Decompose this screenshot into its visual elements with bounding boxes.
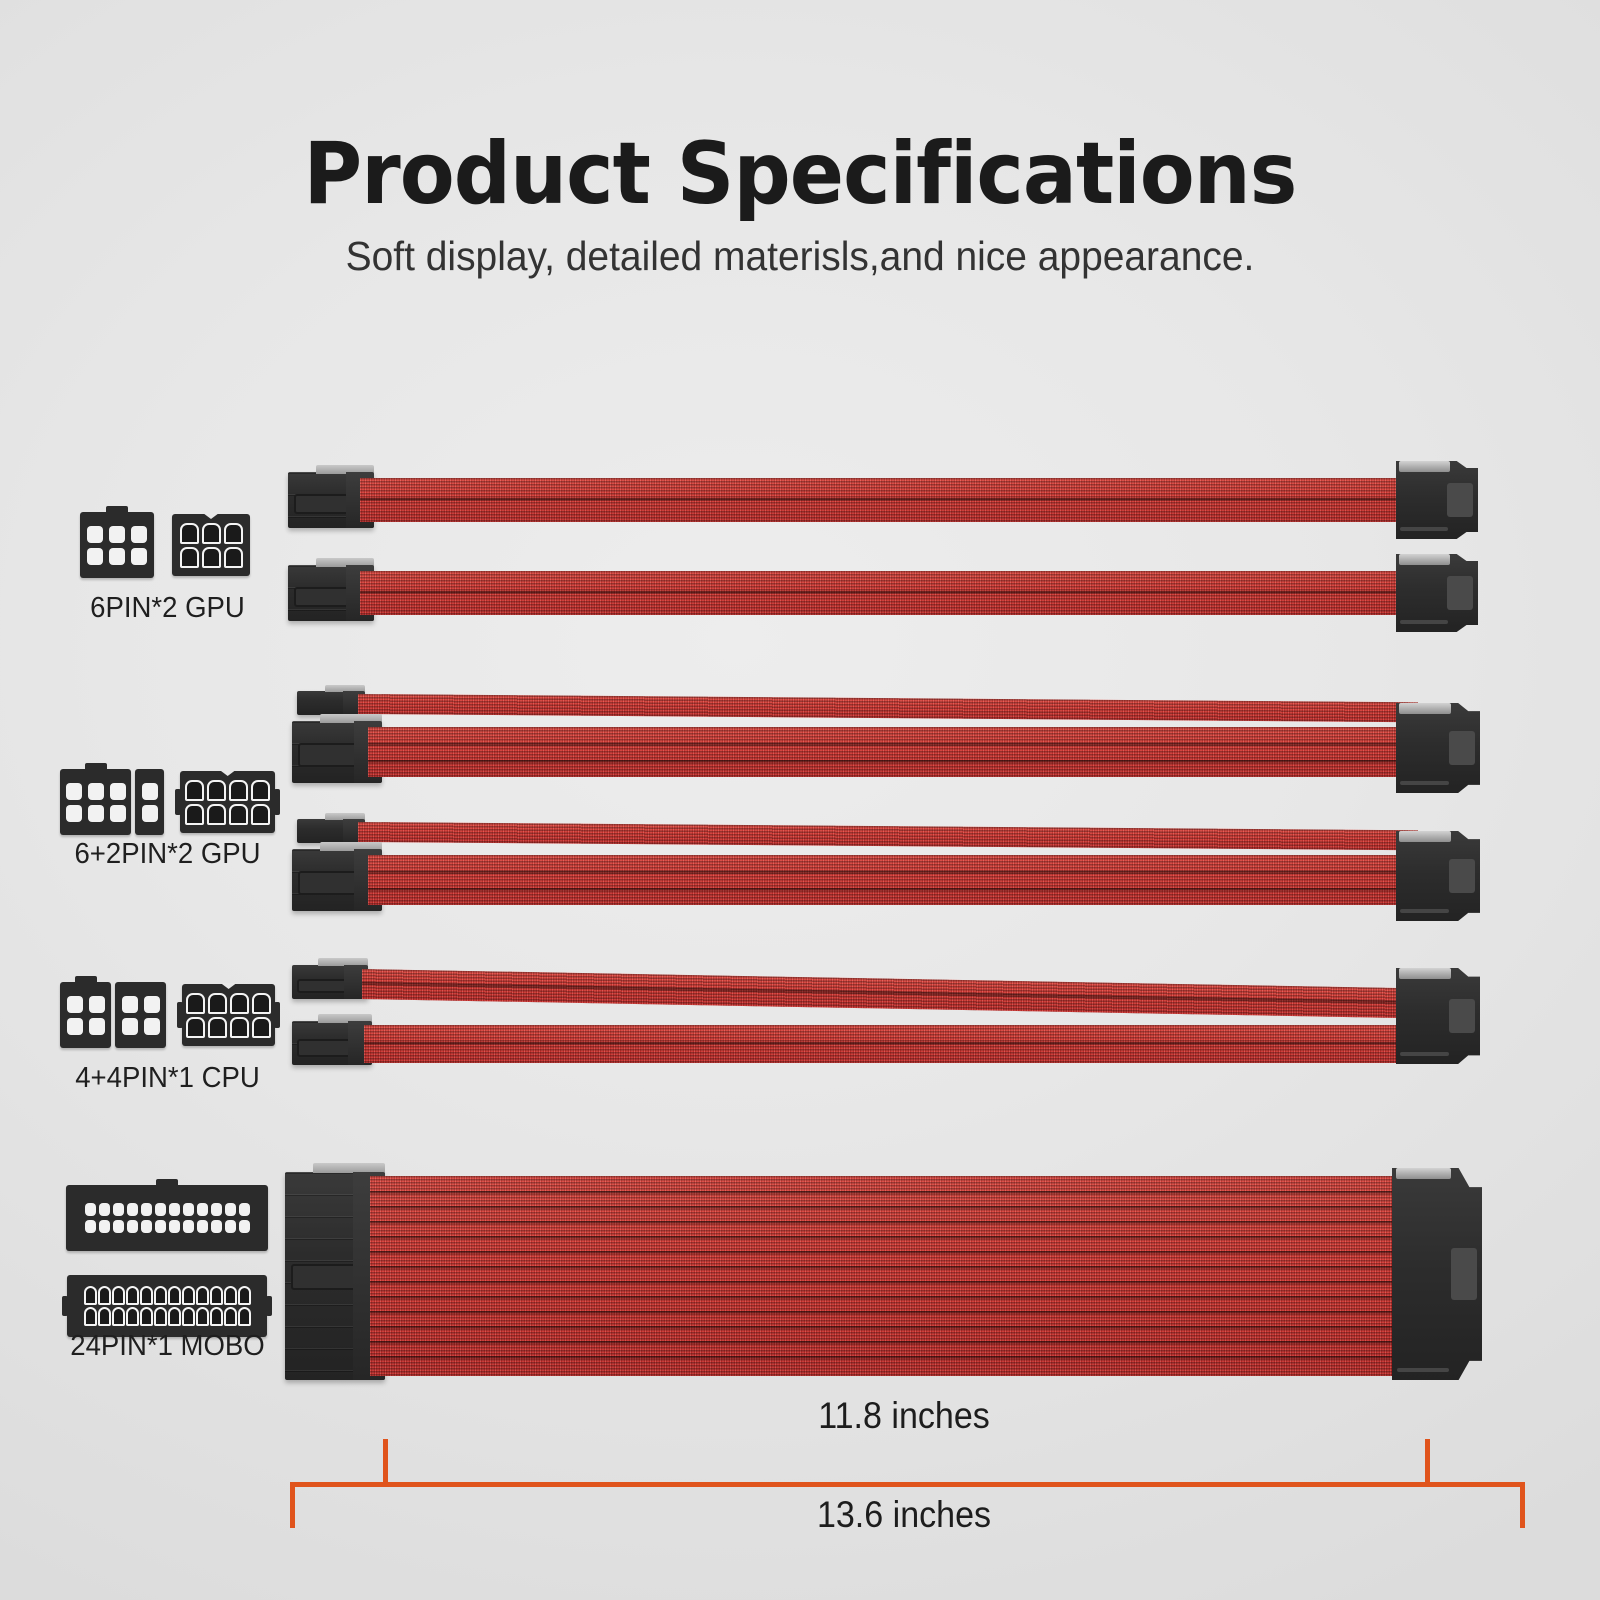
ruler-line xyxy=(290,1482,1525,1487)
product-spec-page: Product Specifications Soft display, det… xyxy=(0,0,1600,1600)
outer-cap-right xyxy=(1520,1482,1525,1528)
dimension-ruler: 11.8 inches 13.6 inches xyxy=(0,0,1600,1600)
inner-tick-right xyxy=(1425,1439,1430,1485)
inner-tick-left xyxy=(383,1439,388,1485)
outer-cap-left xyxy=(290,1482,295,1528)
inner-dimension-label: 11.8 inches xyxy=(720,1395,1088,1437)
outer-dimension-label: 13.6 inches xyxy=(720,1494,1088,1536)
